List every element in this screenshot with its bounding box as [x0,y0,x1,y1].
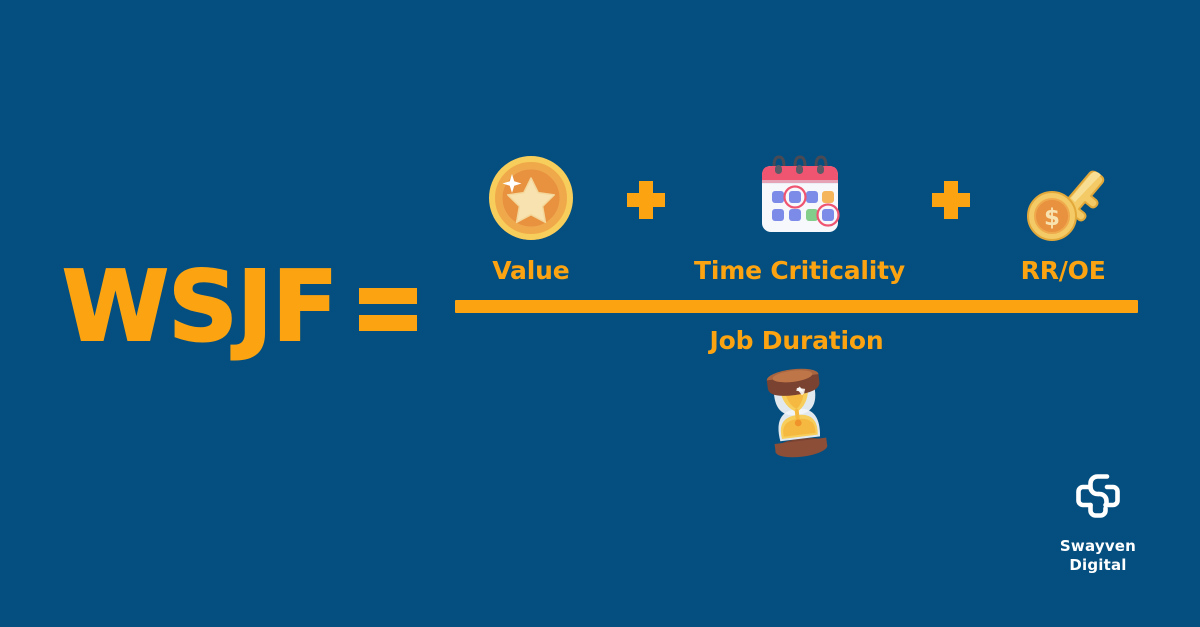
equals-sign-icon [359,286,417,332]
plus-icon [932,181,970,219]
calendar-icon [752,148,848,248]
swayven-cross-s-logo [1069,467,1127,530]
term-value-label: Value [492,256,569,285]
brand-name-line-2: Digital [1069,556,1126,574]
plus-vertical-bar [944,181,958,219]
fraction-numerator: Value [455,148,1138,293]
term-job-duration-label: Job Duration [710,326,884,355]
brand-logo[interactable]: Swayven Digital [1038,467,1158,574]
poster-canvas: WSJF [0,0,1200,627]
fraction-divider-bar [455,300,1138,313]
wsjf-acronym: WSJF [62,258,337,355]
brand-name-line-1: Swayven [1060,537,1136,555]
term-rr-oe: $ RR/OE [988,148,1138,285]
hourglass-icon [755,363,839,463]
term-time-criticality: Time Criticality [685,148,915,285]
fraction-denominator: Job Duration [455,326,1138,463]
term-rr-oe-label: RR/OE [1021,256,1106,285]
plus-vertical-bar [639,181,653,219]
svg-text:$: $ [1044,205,1060,231]
plus-icon [627,181,665,219]
term-time-criticality-label: Time Criticality [694,256,905,285]
term-value: Value [455,148,607,285]
equals-bar-bottom [359,315,417,331]
formula-left-hand-side: WSJF [62,258,417,355]
equals-bar-top [359,288,417,304]
key-dollar-icon: $ [1015,148,1111,248]
gold-coin-star-icon [485,148,577,248]
